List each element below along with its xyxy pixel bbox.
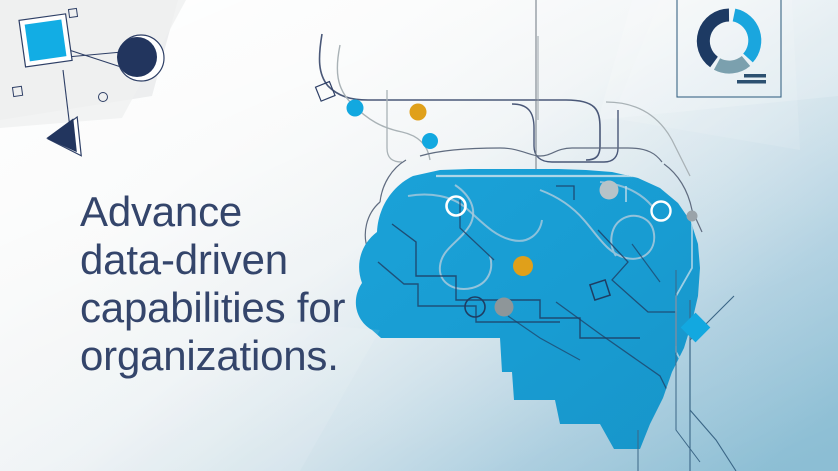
slide-canvas: Advance data-driven capabilities for org…: [0, 0, 838, 471]
gray-dot-node-bottom: [495, 298, 514, 317]
cyan-dot-2: [422, 133, 438, 149]
donut-segment-c: [717, 61, 746, 67]
cyan-square-node: [19, 14, 72, 67]
gray-dot-node-top: [600, 181, 619, 200]
navy-circle-node: [117, 35, 164, 81]
cyan-dot-1: [347, 100, 364, 117]
amber-dot-1: [410, 104, 427, 121]
card-bar-1: [744, 74, 766, 78]
card-bar-2: [737, 80, 766, 84]
gray-small-node-right: [687, 211, 698, 222]
page-title: Advance data-driven capabilities for org…: [80, 188, 410, 380]
amber-dot-node: [513, 256, 533, 276]
